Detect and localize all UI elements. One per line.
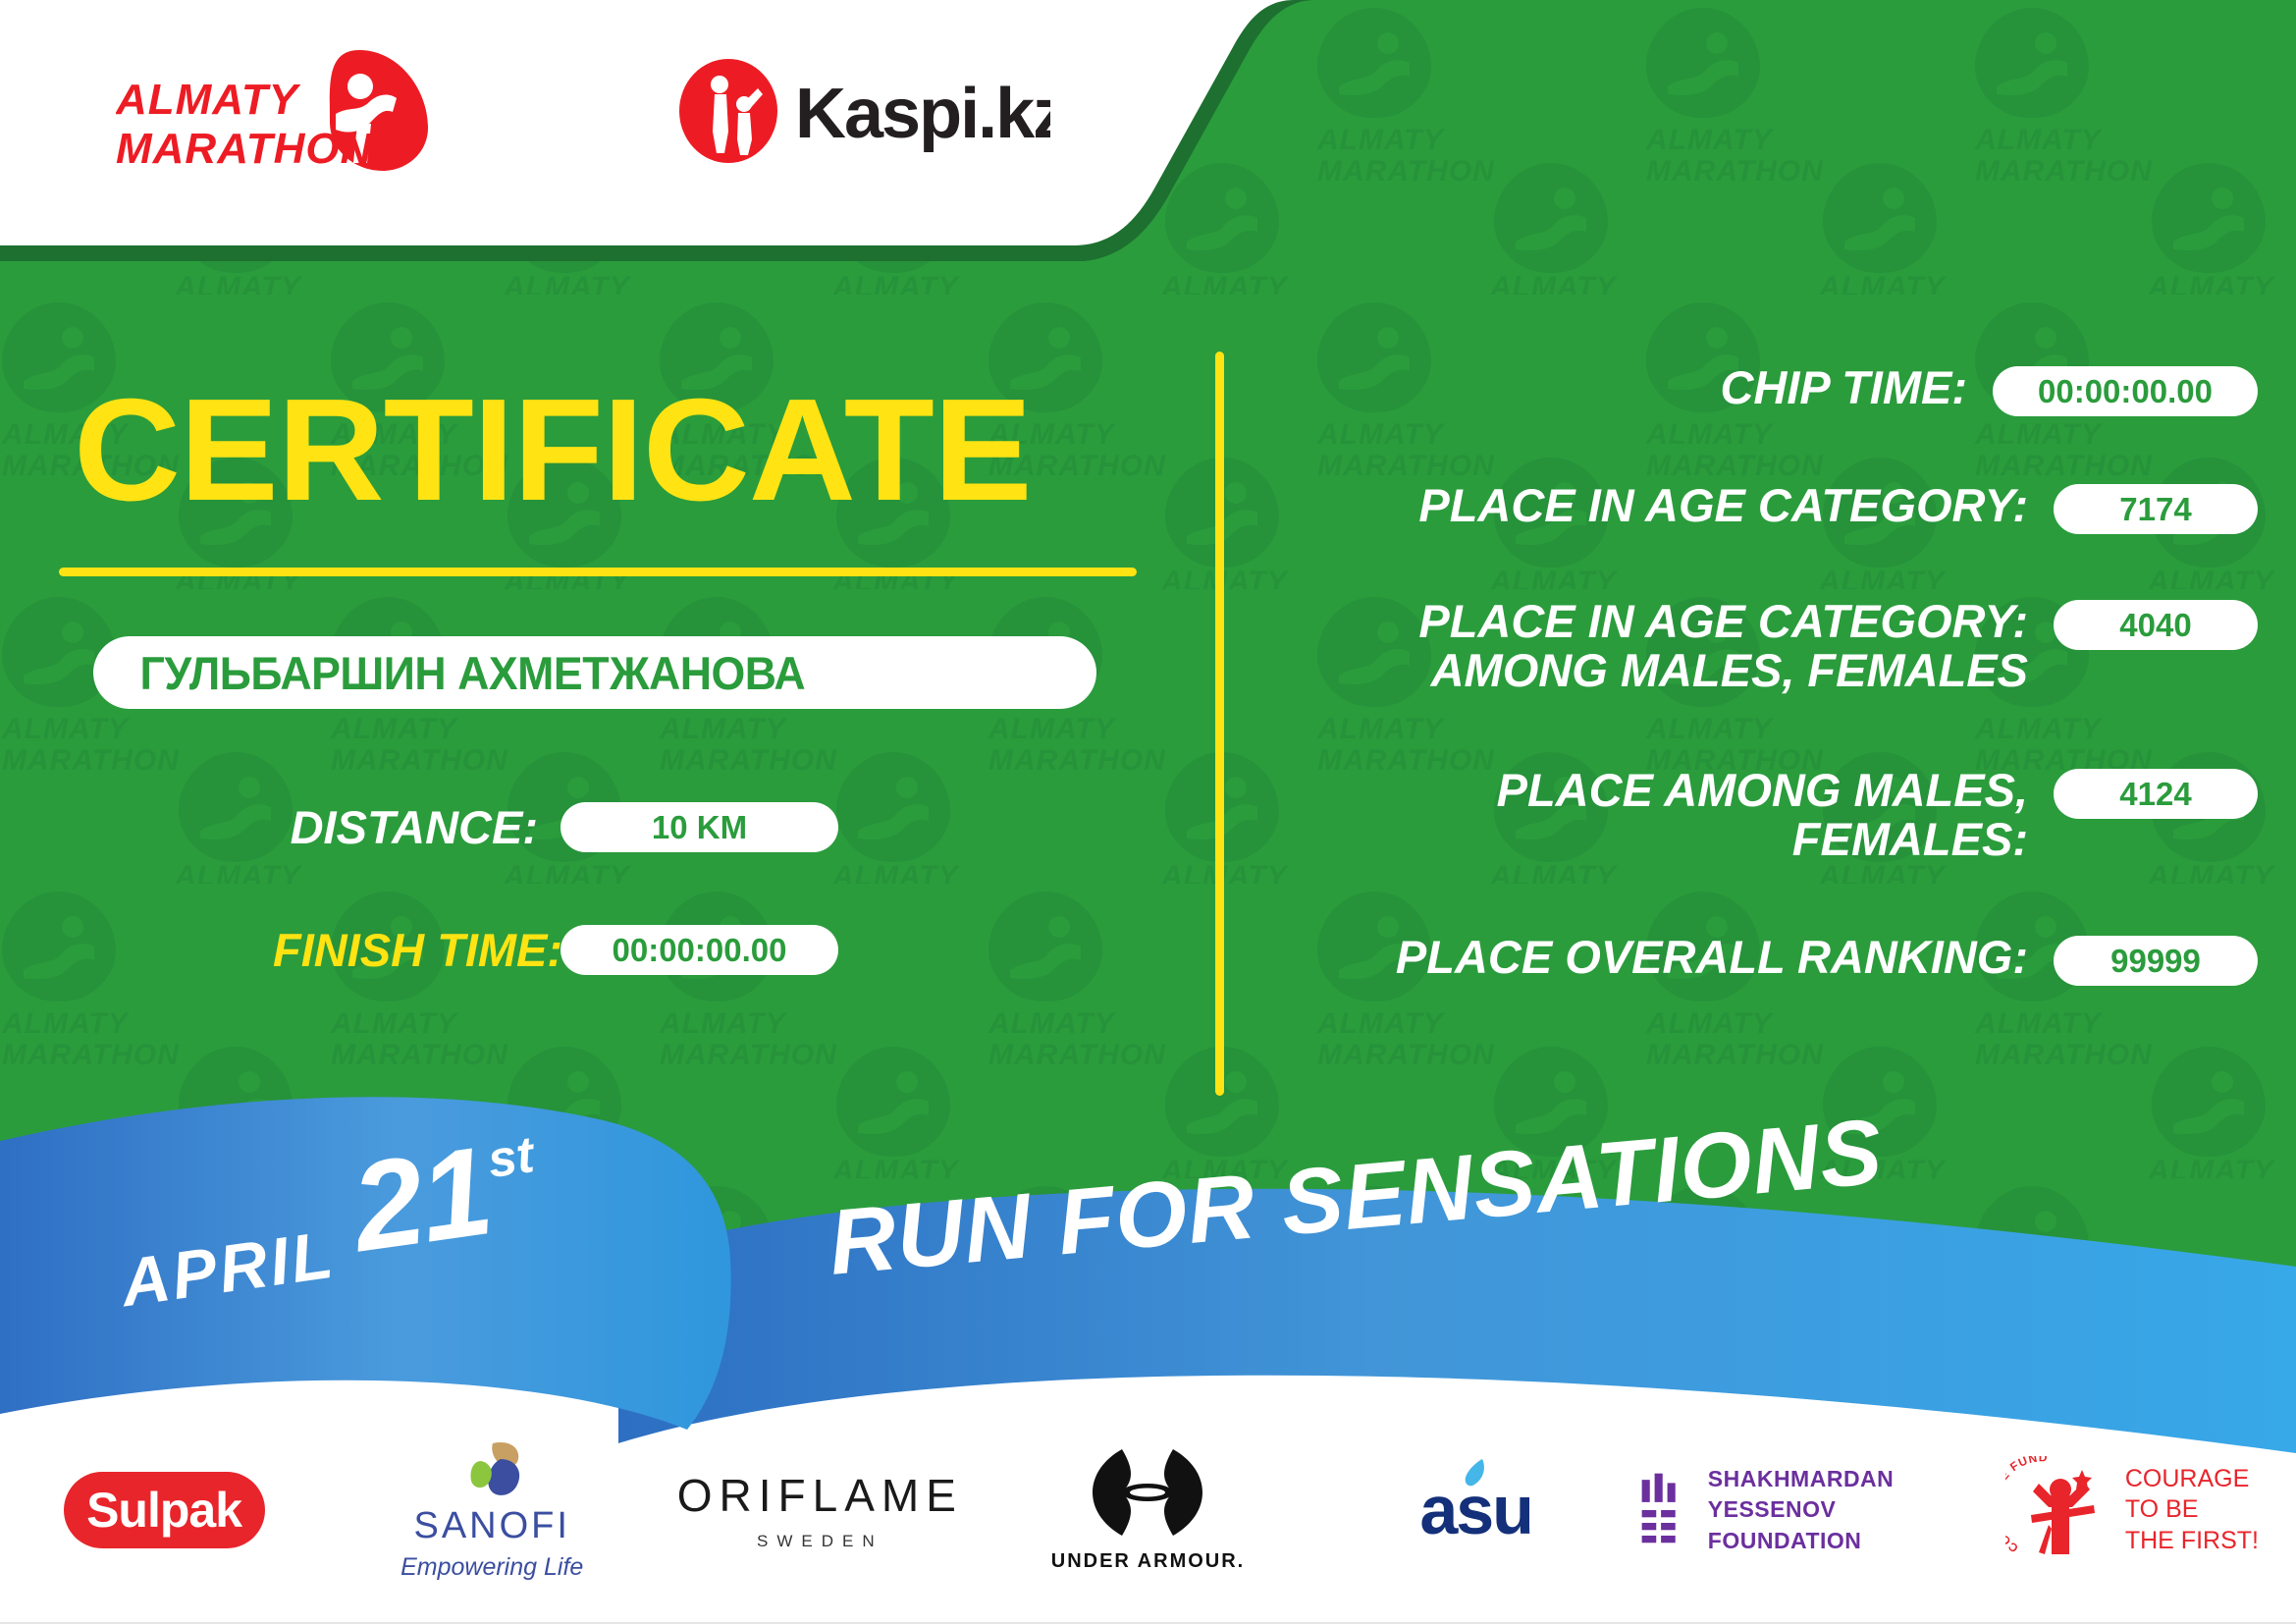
svg-text:Kaspi.kz: Kaspi.kz xyxy=(795,75,1050,153)
chip-time-row: CHIP TIME: 00:00:00.00 xyxy=(1276,363,2258,416)
place-overall-value[interactable]: 99999 xyxy=(2054,936,2258,986)
certificate-title: CERTIFICATE xyxy=(74,378,1032,523)
place-age-category-gender-value[interactable]: 4040 xyxy=(2054,600,2258,650)
finish-time-label: FINISH TIME: xyxy=(273,923,538,977)
courage-line2: TO BE xyxy=(2125,1494,2259,1525)
yessenov-bars-icon xyxy=(1640,1465,1686,1555)
place-age-category-gender-label: PLACE IN AGE CATEGORY: AMONG MALES, FEMA… xyxy=(1276,597,2054,696)
courage-fund-mark-icon: CORPORATE FUND xyxy=(2005,1456,2111,1564)
place-among-gender-row: PLACE AMONG MALES, FEMALES: 4124 xyxy=(1276,766,2258,865)
participant-name-value: ГУЛЬБАРШИН АХМЕТЖАНОВА xyxy=(93,646,805,700)
sanofi-mark-icon xyxy=(448,1439,536,1500)
participant-name-field[interactable]: ГУЛЬБАРШИН АХМЕТЖАНОВА xyxy=(93,636,1096,709)
place-overall-label: PLACE OVERALL RANKING: xyxy=(1276,933,2054,982)
chip-time-value[interactable]: 00:00:00.00 xyxy=(1993,366,2258,416)
courage-line1: COURAGE xyxy=(2125,1464,2259,1494)
sponsor-under-armour[interactable]: UNDER ARMOUR. xyxy=(984,1427,1311,1594)
svg-text:CORPORATE FUND: CORPORATE FUND xyxy=(2005,1456,2049,1555)
courage-line3: THE FIRST! xyxy=(2125,1526,2259,1556)
distance-value[interactable]: 10 KM xyxy=(561,802,838,852)
event-day: 21 xyxy=(344,1118,498,1280)
certificate-page: ALMATY MARATHON ALMATY MARATHON xyxy=(0,0,2296,1624)
asu-droplet-icon xyxy=(1463,1457,1488,1490)
distance-row: DISTANCE: 10 KM xyxy=(273,800,838,854)
kaspi-people-icon xyxy=(679,59,777,163)
place-age-category-gender-row: PLACE IN AGE CATEGORY: AMONG MALES, FEMA… xyxy=(1276,597,2258,696)
almaty-marathon-logo: ALMATY MARATHON xyxy=(116,47,440,175)
vertical-divider xyxy=(1215,352,1224,1096)
sulpak-logo-label: Sulpak xyxy=(64,1472,265,1548)
sponsor-courage-fund[interactable]: CORPORATE FUND COURAGE TO BE THE FIRST! xyxy=(1968,1427,2296,1594)
place-among-gender-label: PLACE AMONG MALES, FEMALES: xyxy=(1276,766,2054,865)
chip-time-label: CHIP TIME: xyxy=(1276,363,1993,412)
event-day-suffix: st xyxy=(484,1125,537,1190)
place-among-gender-value[interactable]: 4124 xyxy=(2054,769,2258,819)
oriflame-tagline: SWEDEN xyxy=(677,1532,963,1551)
place-age-category-row: PLACE IN AGE CATEGORY: 7174 xyxy=(1276,481,2258,534)
sponsor-oriflame[interactable]: ORIFLAME SWEDEN xyxy=(656,1427,984,1594)
sponsor-sulpak[interactable]: Sulpak xyxy=(0,1427,328,1594)
yessenov-name: SHAKHMARDAN YESSENOV xyxy=(1708,1464,1968,1525)
sponsor-asu[interactable]: asu xyxy=(1312,1427,1640,1594)
kaspi-logo: Kaspi.kz xyxy=(677,57,1050,165)
sponsor-yessenov-foundation[interactable]: SHAKHMARDAN YESSENOV FOUNDATION xyxy=(1640,1427,1968,1594)
courage-arc-text: CORPORATE FUND xyxy=(2005,1456,2049,1555)
under-armour-mark-icon xyxy=(1089,1447,1206,1538)
yessenov-tagline: FOUNDATION xyxy=(1708,1526,1968,1556)
distance-label: DISTANCE: xyxy=(273,800,538,854)
finish-time-value[interactable]: 00:00:00.00 xyxy=(561,925,838,975)
svg-text:ALMATY: ALMATY xyxy=(116,76,301,124)
finish-time-row: FINISH TIME: 00:00:00.00 xyxy=(273,923,838,977)
sponsor-bar: Sulpak SANOFI Empowering Life ORIFLAME S… xyxy=(0,1417,2296,1603)
svg-text:MARATHON: MARATHON xyxy=(116,125,373,173)
place-age-category-label: PLACE IN AGE CATEGORY: xyxy=(1276,481,2054,530)
place-age-category-value[interactable]: 7174 xyxy=(2054,484,2258,534)
oriflame-name: ORIFLAME xyxy=(677,1469,963,1522)
under-armour-name: UNDER ARMOUR. xyxy=(1051,1550,1245,1573)
sanofi-name: SANOFI xyxy=(400,1505,583,1547)
sanofi-tagline: Empowering Life xyxy=(400,1553,583,1582)
sponsor-sanofi[interactable]: SANOFI Empowering Life xyxy=(328,1427,656,1594)
title-underline xyxy=(59,568,1137,576)
place-overall-row: PLACE OVERALL RANKING: 99999 xyxy=(1276,933,2258,986)
